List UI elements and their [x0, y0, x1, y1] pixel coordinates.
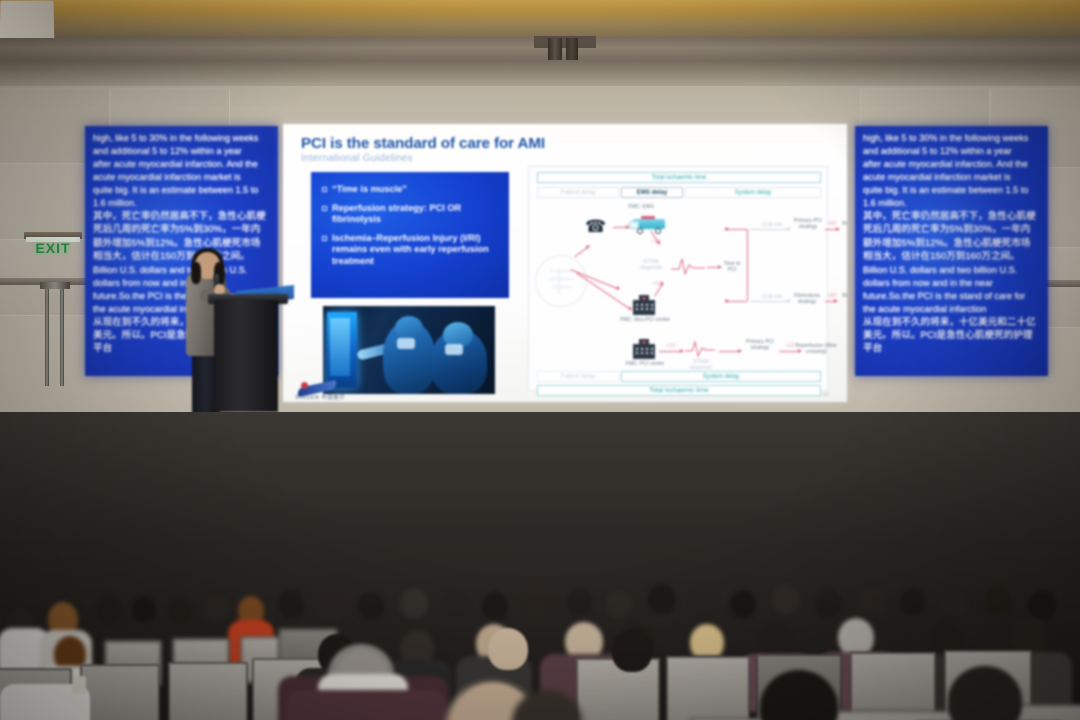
bullet-square-icon — [322, 236, 327, 241]
patient-delay-band-bottom: Patient delay — [537, 371, 619, 382]
subtitle-line-zh: 额外增加5%到12%。急性心肌梗死市场 — [93, 237, 271, 250]
phone-call-icon: ☎ — [585, 217, 606, 237]
arrow-split-down — [725, 301, 747, 302]
surgery-photo — [323, 306, 495, 394]
subtitle-line: dollars from now and in the near — [863, 277, 1041, 290]
arrow-to-reperfusion-top — [825, 229, 839, 230]
reperfusion-wire-crossing-top: Reperfusion (Wire crossing) — [839, 221, 847, 234]
stemi-pathway-diagram: Total ischaemic time Patient delay EMS d… — [528, 166, 828, 391]
ambulance-wheel — [655, 228, 661, 234]
arrow-stemi-to-pci-strategy — [719, 351, 741, 352]
subtitle-line: high, like 5 to 30% in the following wee… — [93, 132, 271, 145]
speaker-hair-left — [191, 262, 201, 284]
coffee-cup — [72, 676, 86, 694]
total-ischaemic-time-top: Total ischaemic time — [537, 172, 821, 183]
fmc-ems-label: FMC: EMS — [617, 204, 665, 210]
time-label: <120 min — [755, 222, 789, 228]
subtitle-line: high, like 5 to 30% in the following wee… — [863, 132, 1041, 145]
slide-title: PCI is the standard of care for AMI — [301, 135, 545, 152]
primary-pci-strategy-bottom: Primary PCI strategy — [743, 339, 777, 352]
subtitle-line-zh: 其中，死亡率仍然居高不下，急性心肌梗 — [93, 210, 271, 223]
arrow-primary-pci — [750, 229, 790, 230]
pci-centre-icon — [633, 339, 655, 359]
time-label: <120 min — [755, 294, 789, 300]
subtitle-line: Billion U.S. dollars and two billion U.S… — [863, 264, 1041, 277]
subtitle-line: acute myocardial infarction market is — [863, 171, 1041, 184]
ambulance-icon — [629, 217, 667, 234]
ambulance-wheel — [637, 228, 643, 234]
subtitle-line: 1.6 million. — [93, 197, 271, 210]
subtitle-line: dollars from now and in the near — [93, 277, 271, 290]
subtitle-line: and additional 5 to 12% within a year — [93, 145, 271, 158]
subtitle-line-zh: 死后几周的死亡率为5%到30%，一年内 — [863, 223, 1041, 236]
fibrinolysis-strategy: Fibrinolysis strategy — [787, 293, 827, 306]
subtitle-line-zh: 美元。所以。PCI是急性心肌梗死的护理 — [863, 329, 1041, 342]
bullet-square-icon — [322, 187, 327, 192]
subtitle-line: and additional 5 to 12% within a year — [863, 145, 1041, 158]
slide-subtitle: International Guidelines — [301, 153, 413, 164]
time-label: <60' — [825, 221, 839, 227]
slide-bullet-box: “Time is muscle” Reperfusion strategy: P… — [311, 172, 509, 298]
subtitle-panel-right: high, like 5 to 30% in the following wee… — [855, 126, 1048, 376]
bullet-item: “Time is muscle” — [322, 184, 499, 196]
subtitle-line: 1.6 million. — [863, 197, 1041, 210]
ceiling-vent — [534, 36, 596, 48]
fmc-pci-centre-label: FMC: PCI centre — [619, 361, 671, 367]
system-delay-band-top: System delay — [685, 187, 821, 198]
stanchion-head — [40, 282, 70, 289]
podium — [214, 300, 278, 412]
patient-icon — [535, 255, 587, 307]
bullet-square-icon — [322, 206, 327, 211]
subtitle-line: Billion U.S. dollars and two billion U.S… — [93, 264, 271, 277]
bullet-item: Reperfusion strategy: PCI OR fibrinolysi… — [322, 203, 499, 226]
arrow-pci-to-stemi-bottom — [659, 351, 683, 352]
conference-photo: EXIT high, like 5 to 30% in the followin… — [0, 0, 1080, 720]
arrow-patient-to-call — [574, 246, 589, 257]
stanchion-pole-left — [45, 286, 49, 386]
surgeon-head — [395, 316, 423, 340]
bullet-text: “Time is muscle” — [332, 184, 407, 196]
subtitle-line: after acute myocardial infarction. And t… — [93, 158, 271, 171]
time-label: <10' — [661, 343, 681, 349]
primary-pci-strategy-top: Primary PCI strategy — [791, 218, 825, 231]
subtitle-line: acute myocardial infarction market is — [93, 171, 271, 184]
time-label: <90' — [825, 293, 839, 299]
wall-upper-band — [0, 60, 1080, 86]
organization-logo: SINGEN 中国医疗 — [295, 382, 373, 400]
subtitle-line: the acute myocardial infarction — [863, 303, 1041, 316]
stemi-diagnosis-top: STEMI diagnosis — [633, 259, 669, 272]
bullet-item: Ischemia–Reperfusion Injury (I/RI) remai… — [322, 233, 499, 268]
subtitle-line-zh: 平台 — [863, 342, 1041, 355]
reperfusion-wire-crossing-bottom: Reperfusion (Wire crossing) — [791, 343, 841, 356]
stanchion-pole-right — [60, 286, 64, 386]
exit-sign: EXIT — [24, 232, 82, 258]
subtitle-line: quite big. It is an estimate between 1.5… — [93, 184, 271, 197]
subtitle-line-zh: 相当大，估计在150万到160万之间。 — [863, 250, 1041, 263]
patient-delay-band-top: Patient delay — [537, 187, 619, 198]
slide-corner-text: co — [823, 392, 829, 398]
reperfusion-lytic-bolus: Reperfusion (Lytic bolus) — [839, 293, 847, 306]
ecg-waveform-icon — [671, 255, 705, 277]
ecg-waveform-icon-bottom — [685, 339, 715, 359]
angiography-monitor-image — [330, 318, 350, 376]
branch-splitter — [747, 229, 748, 301]
surgical-mask — [397, 338, 415, 349]
surgical-mask-second — [445, 344, 463, 355]
system-delay-band-bottom: System delay — [621, 371, 821, 382]
subtitle-line: after acute myocardial infarction. And t… — [863, 158, 1041, 171]
logo-text: SINGEN 中国医疗 — [295, 393, 345, 401]
bullet-text: Reperfusion strategy: PCI OR fibrinolysi… — [332, 203, 499, 226]
subtitle-line-zh: 其中，死亡率仍然居高不下，急性心肌梗 — [863, 210, 1041, 223]
exit-sign-label: EXIT — [24, 240, 82, 256]
arrow-to-reperfusion-lytic — [825, 301, 837, 302]
non-pci-centre-icon — [633, 295, 655, 315]
stemi-diagnosis-bottom: STEMI diagnosis — [683, 359, 719, 372]
logo-dot-icon — [301, 382, 308, 389]
fmc-non-pci-centre-label: FMC: Non-PCI centre — [613, 317, 677, 323]
presentation-screen: PCI is the standard of care for AMI Inte… — [283, 124, 847, 402]
arrow-split-up — [725, 229, 747, 230]
arrow-fibrinolysis — [750, 301, 790, 302]
arrow-call-to-ems — [613, 227, 629, 228]
subtitle-line-zh: 从现在到不久的将来，十亿美元和二十亿 — [863, 316, 1041, 329]
total-ischaemic-time-bottom: Total ischaemic time — [537, 385, 821, 396]
subtitle-line-zh: 死后几周的死亡率为5%到30%，一年内 — [93, 223, 271, 236]
subtitle-line-zh: 额外增加5%到12%。急性心肌梗死市场 — [863, 237, 1041, 250]
subtitle-line-zh: 相当大，估计在150万到160万之间。 — [93, 250, 271, 263]
ems-delay-band: EMS delay — [621, 187, 683, 198]
subtitle-line: future.So.the PCI is the stand of care f… — [863, 290, 1041, 303]
time-to-pci-label: Time to PCI — [719, 261, 745, 274]
bullet-text: Ischemia–Reperfusion Injury (I/RI) remai… — [332, 233, 499, 268]
subtitle-line: quite big. It is an estimate between 1.5… — [863, 184, 1041, 197]
